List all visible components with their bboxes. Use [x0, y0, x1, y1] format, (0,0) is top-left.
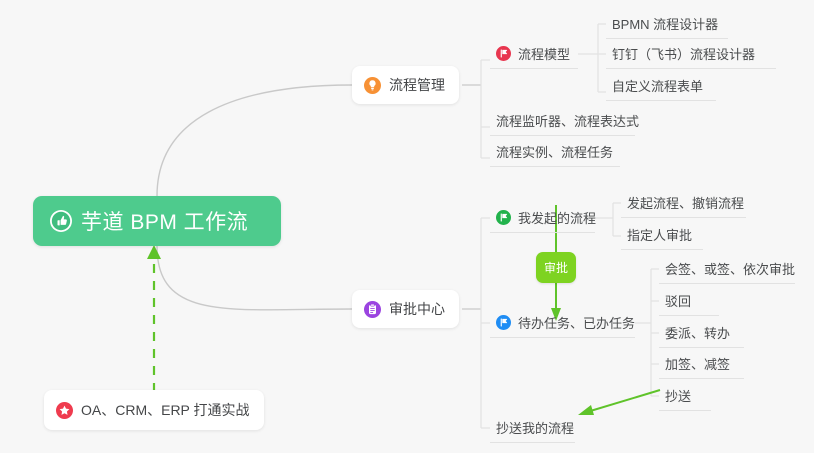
leaf-label: BPMN 流程设计器	[612, 14, 718, 33]
root-label: 芋道 BPM 工作流	[81, 206, 248, 236]
leaf-label: 抄送我的流程	[496, 418, 574, 437]
node-label: 待办任务、已办任务	[518, 313, 635, 332]
flag-icon-blue	[496, 315, 511, 330]
leaf-label: 自定义流程表单	[612, 76, 703, 95]
node-todo-done-tasks[interactable]: 待办任务、已办任务	[490, 308, 635, 338]
flag-icon-green	[496, 210, 511, 225]
leaf-label: 流程监听器、流程表达式	[496, 111, 639, 130]
leaf-cc-to-me[interactable]: 抄送我的流程	[490, 413, 575, 443]
floating-note-node[interactable]: OA、CRM、ERP 打通实战	[44, 390, 264, 430]
flag-icon-red	[496, 46, 511, 61]
leaf-countersign[interactable]: 会签、或签、依次审批	[659, 254, 795, 284]
thumbs-up-icon	[50, 210, 72, 232]
leaf-label: 驳回	[665, 291, 691, 310]
leaf-bpmn-designer[interactable]: BPMN 流程设计器	[606, 9, 728, 39]
branch-node-approval-center[interactable]: 审批中心	[352, 290, 459, 328]
branch-node-process-management[interactable]: 流程管理	[352, 66, 459, 104]
leaf-cc[interactable]: 抄送	[659, 381, 711, 411]
leaf-label: 流程实例、流程任务	[496, 142, 613, 161]
leaf-instance-task[interactable]: 流程实例、流程任务	[490, 137, 620, 167]
floating-note-label: OA、CRM、ERP 打通实战	[81, 400, 250, 420]
leaf-delegate-transfer[interactable]: 委派、转办	[659, 318, 744, 348]
leaf-listener-expression[interactable]: 流程监听器、流程表达式	[490, 106, 635, 136]
branch-label: 审批中心	[389, 299, 445, 319]
leaf-add-remove-sign[interactable]: 加签、减签	[659, 349, 744, 379]
star-icon	[56, 402, 73, 419]
approval-pill[interactable]: 审批	[536, 252, 576, 283]
leaf-label: 加签、减签	[665, 354, 730, 373]
node-process-model[interactable]: 流程模型	[490, 39, 578, 69]
leaf-reject[interactable]: 驳回	[659, 286, 719, 316]
leaf-custom-form[interactable]: 自定义流程表单	[606, 71, 716, 101]
node-my-initiated[interactable]: 我发起的流程	[490, 203, 595, 233]
root-node[interactable]: 芋道 BPM 工作流	[33, 196, 281, 246]
leaf-label: 会签、或签、依次审批	[665, 259, 795, 278]
node-label: 我发起的流程	[518, 208, 596, 227]
leaf-start-cancel-process[interactable]: 发起流程、撤销流程	[621, 188, 746, 218]
leaf-label: 指定人审批	[627, 225, 692, 244]
leaf-label: 钉钉（飞书）流程设计器	[612, 44, 755, 63]
leaf-assignee-approval[interactable]: 指定人审批	[621, 220, 703, 250]
leaf-dingtalk-designer[interactable]: 钉钉（飞书）流程设计器	[606, 39, 776, 69]
mindmap-canvas: 芋道 BPM 工作流 流程管理 流程模型 BPMN 流程设计器 钉钉（飞书）流程	[0, 0, 814, 453]
branch-label: 流程管理	[389, 75, 445, 95]
leaf-label: 委派、转办	[665, 323, 730, 342]
leaf-label: 抄送	[665, 386, 691, 405]
approval-pill-label: 审批	[544, 259, 568, 276]
lightbulb-icon	[364, 77, 381, 94]
clipboard-icon	[364, 301, 381, 318]
node-label: 流程模型	[518, 44, 570, 63]
leaf-label: 发起流程、撤销流程	[627, 193, 744, 212]
